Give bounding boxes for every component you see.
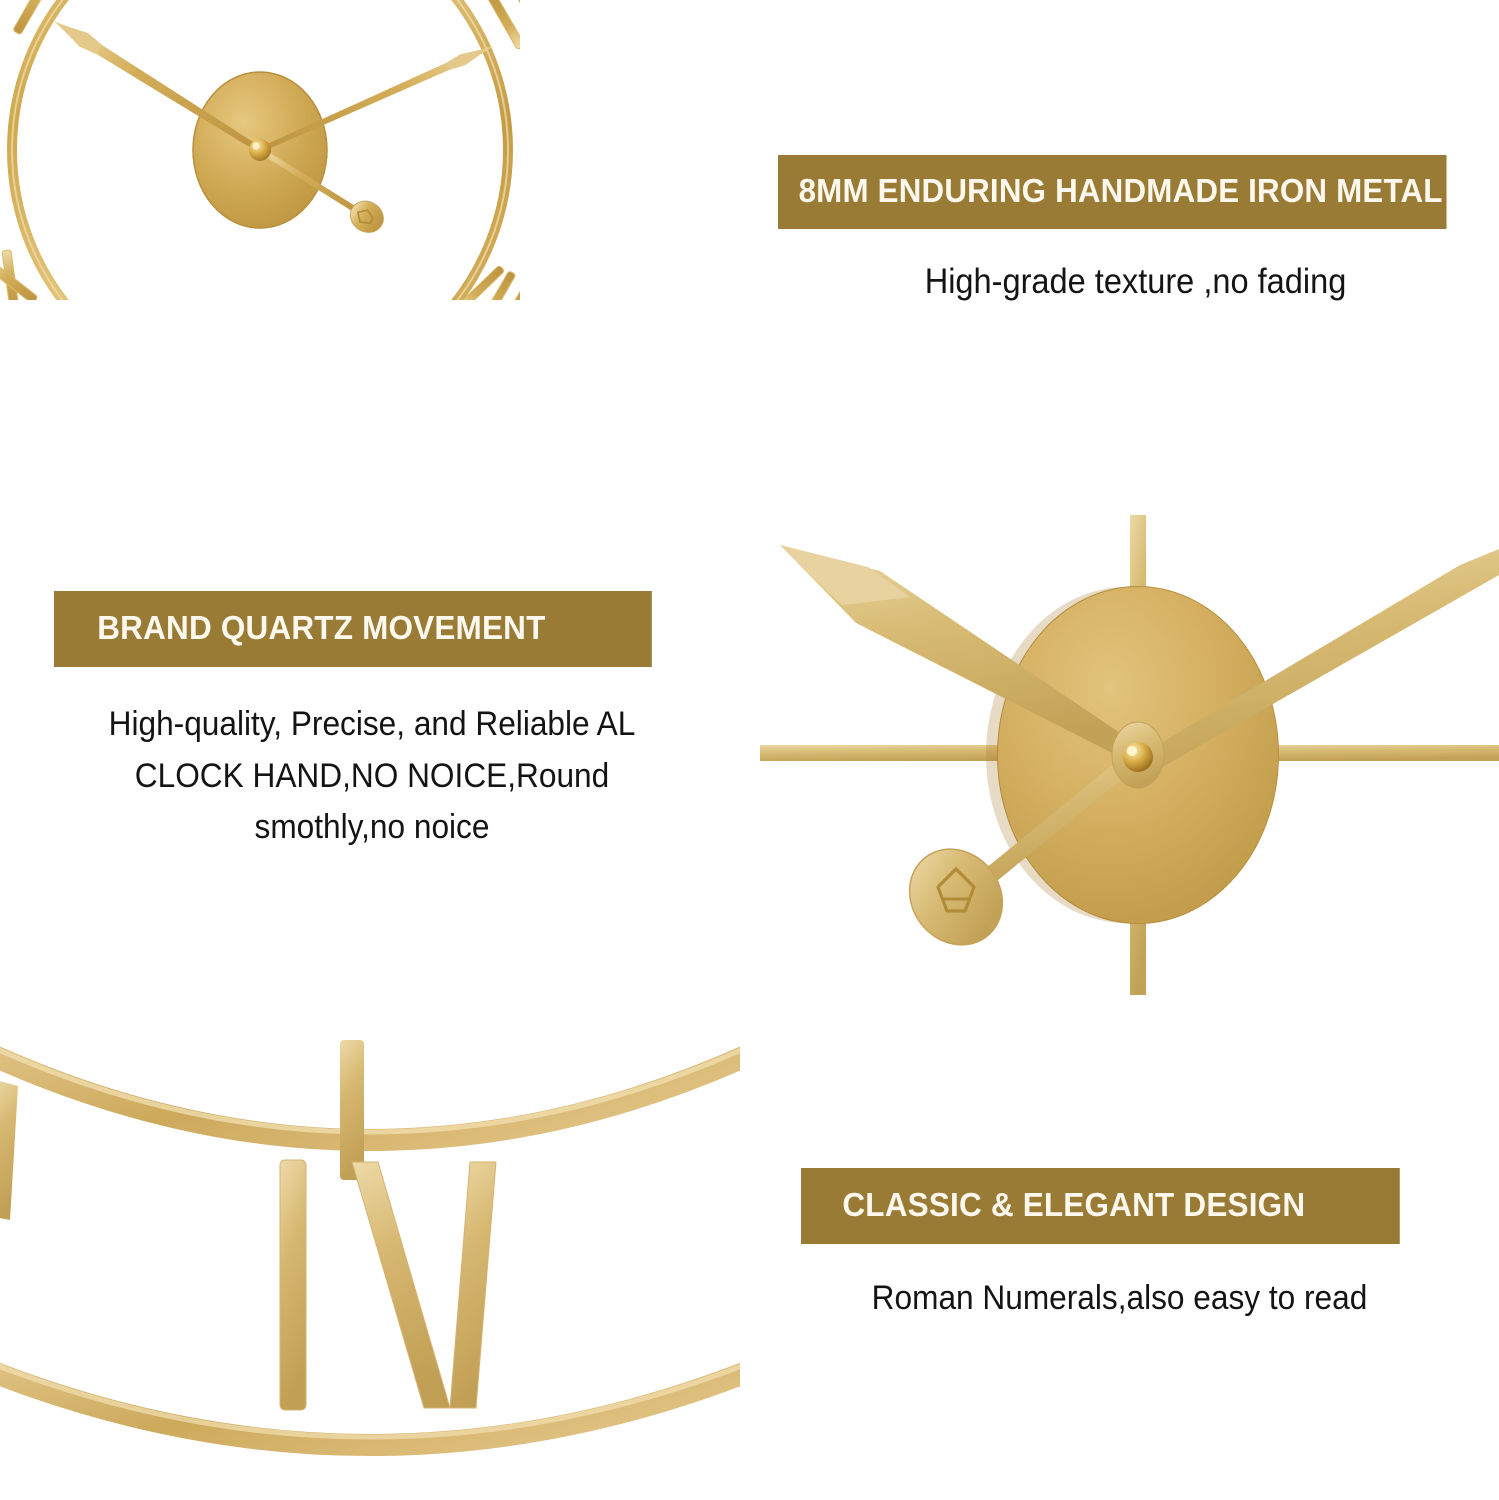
numeral-bar-v-left xyxy=(352,1162,450,1408)
numeral-inner-arc-highlight xyxy=(0,1022,740,1132)
numeral-outer-arc-highlight xyxy=(0,1342,740,1437)
hub-center-pin-glint xyxy=(1127,746,1137,756)
numeral-IIII xyxy=(453,256,550,348)
numeral-VI xyxy=(218,416,280,473)
numeral-inner-arc xyxy=(0,1030,740,1140)
feature-block-metal: 8MM ENDURING HANDMADE IRON METAL High-gr… xyxy=(778,155,1493,307)
feature-block-movement: BRAND QUARTZ MOVEMENT High-quality, Prec… xyxy=(54,591,690,854)
numeral-II xyxy=(486,0,547,50)
feature-body-metal: High-grade texture ,no fading xyxy=(803,257,1468,307)
product-photo-center-hub xyxy=(760,505,1499,1000)
numeral-III xyxy=(521,130,578,192)
feature-body-design: Roman Numerals,also easy to read xyxy=(823,1274,1415,1322)
numeral-VII xyxy=(58,351,149,447)
product-photo-full-clock xyxy=(0,0,700,490)
clock-center-pin xyxy=(249,139,271,161)
feature-block-design: CLASSIC & ELEGANT DESIGN Roman Numerals,… xyxy=(801,1168,1438,1322)
numeral-bar-v-right xyxy=(450,1162,496,1408)
clock-outer-rim-highlight xyxy=(0,0,590,480)
product-photo-numeral-detail xyxy=(0,1020,740,1500)
feature-banner-movement: BRAND QUARTZ MOVEMENT xyxy=(54,591,652,667)
numeral-detail-bars xyxy=(280,1160,496,1410)
hub-closeup-group xyxy=(760,515,1499,995)
clock-face-group xyxy=(0,0,590,480)
clock-spokes xyxy=(0,0,590,480)
numeral-spoke xyxy=(340,1040,364,1180)
numeral-edge-sliver xyxy=(0,1080,18,1220)
numeral-closeup-group xyxy=(0,1022,740,1445)
feature-banner-design: CLASSIC & ELEGANT DESIGN xyxy=(801,1168,1400,1244)
hub-tail-emblem xyxy=(891,831,1022,964)
clock-center-pin-glint xyxy=(252,142,259,149)
feature-body-movement: High-quality, Precise, and Reliable AL C… xyxy=(76,699,667,854)
numeral-bar-1 xyxy=(280,1160,306,1410)
numeral-outer-arc xyxy=(0,1350,740,1445)
hub-center-pin xyxy=(1123,742,1153,772)
feature-banner-metal: 8MM ENDURING HANDMADE IRON METAL xyxy=(778,155,1447,229)
infographic-canvas: 8MM ENDURING HANDMADE IRON METAL High-gr… xyxy=(0,0,1499,1500)
clock-outer-rim xyxy=(0,0,590,480)
